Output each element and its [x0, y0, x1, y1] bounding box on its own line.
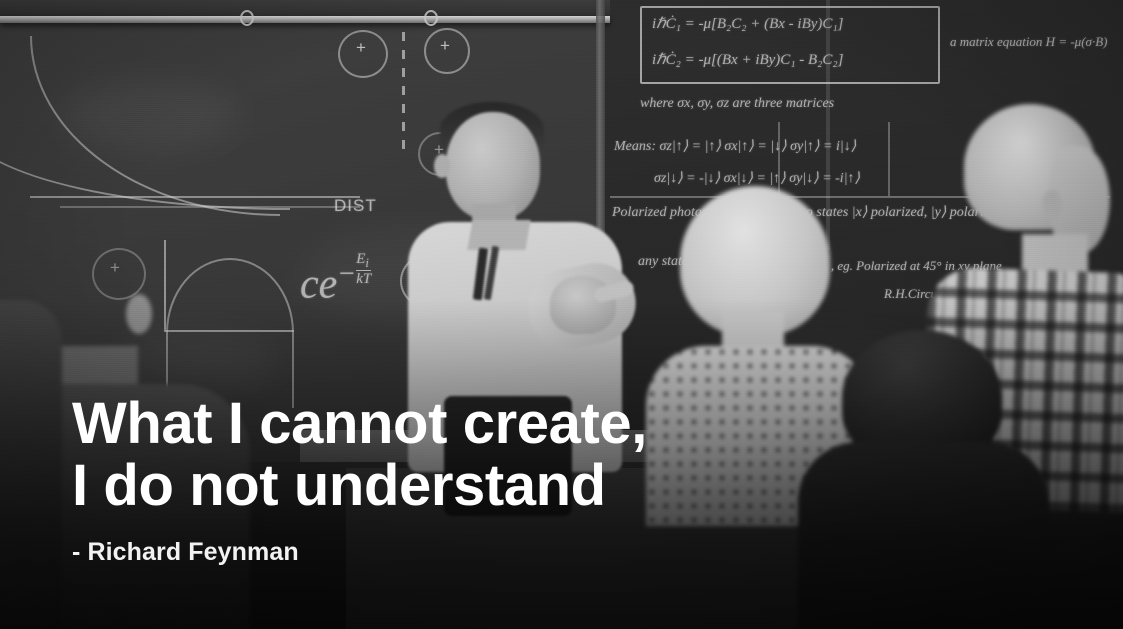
dashed-field-line-segment	[402, 50, 405, 59]
curve-asymptote-line	[30, 196, 360, 198]
board-frame-top	[0, 0, 610, 16]
feynman-ear	[434, 154, 450, 178]
board-rail-clip	[424, 10, 438, 26]
dashed-field-line-segment	[402, 86, 405, 95]
student-center-shoulders	[798, 442, 1048, 629]
student-left-ear	[126, 294, 152, 334]
board-column-divider	[888, 122, 890, 196]
equation-box-outline	[640, 6, 940, 84]
board-rail-clip	[240, 10, 254, 26]
plus-sign-glyph: +	[356, 38, 366, 58]
plaid-student-ear	[1042, 190, 1062, 220]
feynman-collar	[467, 220, 530, 250]
quote-overlay: What I cannot create, I do not understan…	[72, 393, 792, 567]
plus-sign-glyph: +	[440, 36, 450, 56]
quote-card: DIST ce−EikT + + + + + iℏĊ₁ = -μ[B₂C₂ + …	[0, 0, 1123, 629]
board-column-divider	[778, 122, 780, 196]
curve-asymptote-line	[60, 206, 360, 208]
quote-attribution: - Richard Feynman	[72, 538, 792, 567]
quote-text: What I cannot create, I do not understan…	[72, 393, 792, 517]
dashed-field-line-segment	[402, 32, 405, 41]
person-student-center	[824, 330, 1034, 629]
person-edge-left	[0, 300, 62, 629]
dashed-field-line-segment	[402, 68, 405, 77]
board-rail	[0, 16, 610, 23]
